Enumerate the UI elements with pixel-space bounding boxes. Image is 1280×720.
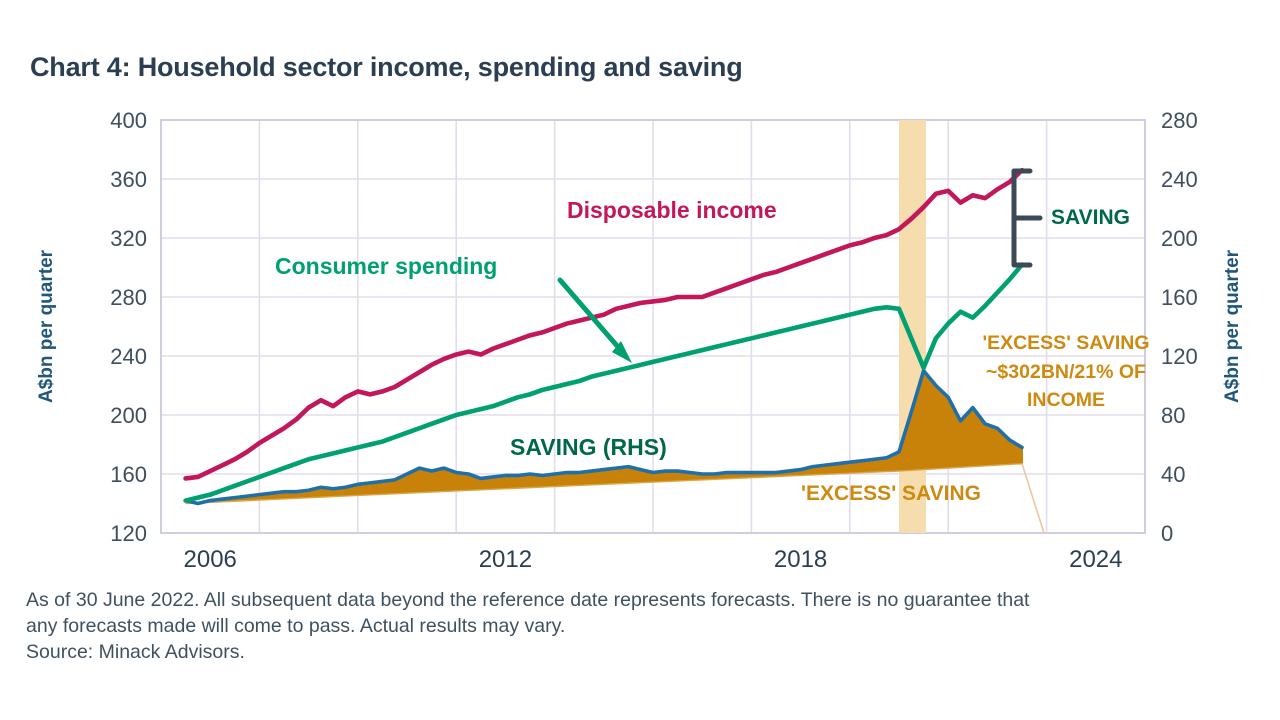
y2-axis-tick-label: 120 [1161,344,1198,369]
annotation-disposable-income: Disposable income [567,197,777,223]
y2-axis-tick-label: 240 [1161,167,1198,192]
y2-axis-tick-label: 200 [1161,226,1198,251]
annotation-saving-rhs: SAVING (RHS) [510,434,667,460]
annotation-excess-line-1: 'EXCESS' SAVING [982,332,1149,354]
annotation-saving-bracket: SAVING [1051,206,1130,229]
x-axis-tick-label: 2018 [774,546,827,573]
annotation-excess-line-2: ~$302BN/21% OF [986,361,1146,383]
y-axis-title: A$bn per quarter [36,249,57,403]
y2-axis-tick-label: 40 [1161,462,1185,487]
footnote-line-1: As of 30 June 2022. All subsequent data … [26,588,1266,614]
y-axis-tick-label: 280 [110,285,147,310]
y2-axis-tick-label: 0 [1161,521,1173,546]
y2-axis-tick-label: 280 [1161,108,1198,133]
y-axis-tick-label: 360 [110,167,147,192]
y2-axis-tick-label: 160 [1161,285,1198,310]
annotation-consumer-spending: Consumer spending [275,253,497,279]
y-axis-tick-label: 320 [110,226,147,251]
y-axis-tick-label: 240 [110,344,147,369]
y-axis-tick-label: 160 [110,462,147,487]
y2-axis-tick-label: 80 [1161,403,1185,428]
annotation-excess-line-3: INCOME [1027,389,1105,411]
x-axis-tick-label: 2024 [1069,546,1122,573]
annotation-excess-saving-lower: 'EXCESS' SAVING [801,482,981,505]
y2-axis-title: A$bn per quarter [1222,249,1243,403]
y-axis-tick-label: 200 [110,403,147,428]
footnote-line-3: Source: Minack Advisors. [26,640,1266,666]
y-axis-tick-label: 120 [110,521,147,546]
x-axis-tick-label: 2012 [479,546,532,573]
x-axis-tick-label: 2006 [184,546,237,573]
footnote-line-2: any forecasts made will come to pass. Ac… [26,614,1266,640]
chart-page: Chart 4: Household sector income, spendi… [0,0,1280,720]
consumer-spending-arrow [560,280,625,355]
footnote: As of 30 June 2022. All subsequent data … [26,588,1266,666]
y-axis-tick-label: 400 [110,108,147,133]
